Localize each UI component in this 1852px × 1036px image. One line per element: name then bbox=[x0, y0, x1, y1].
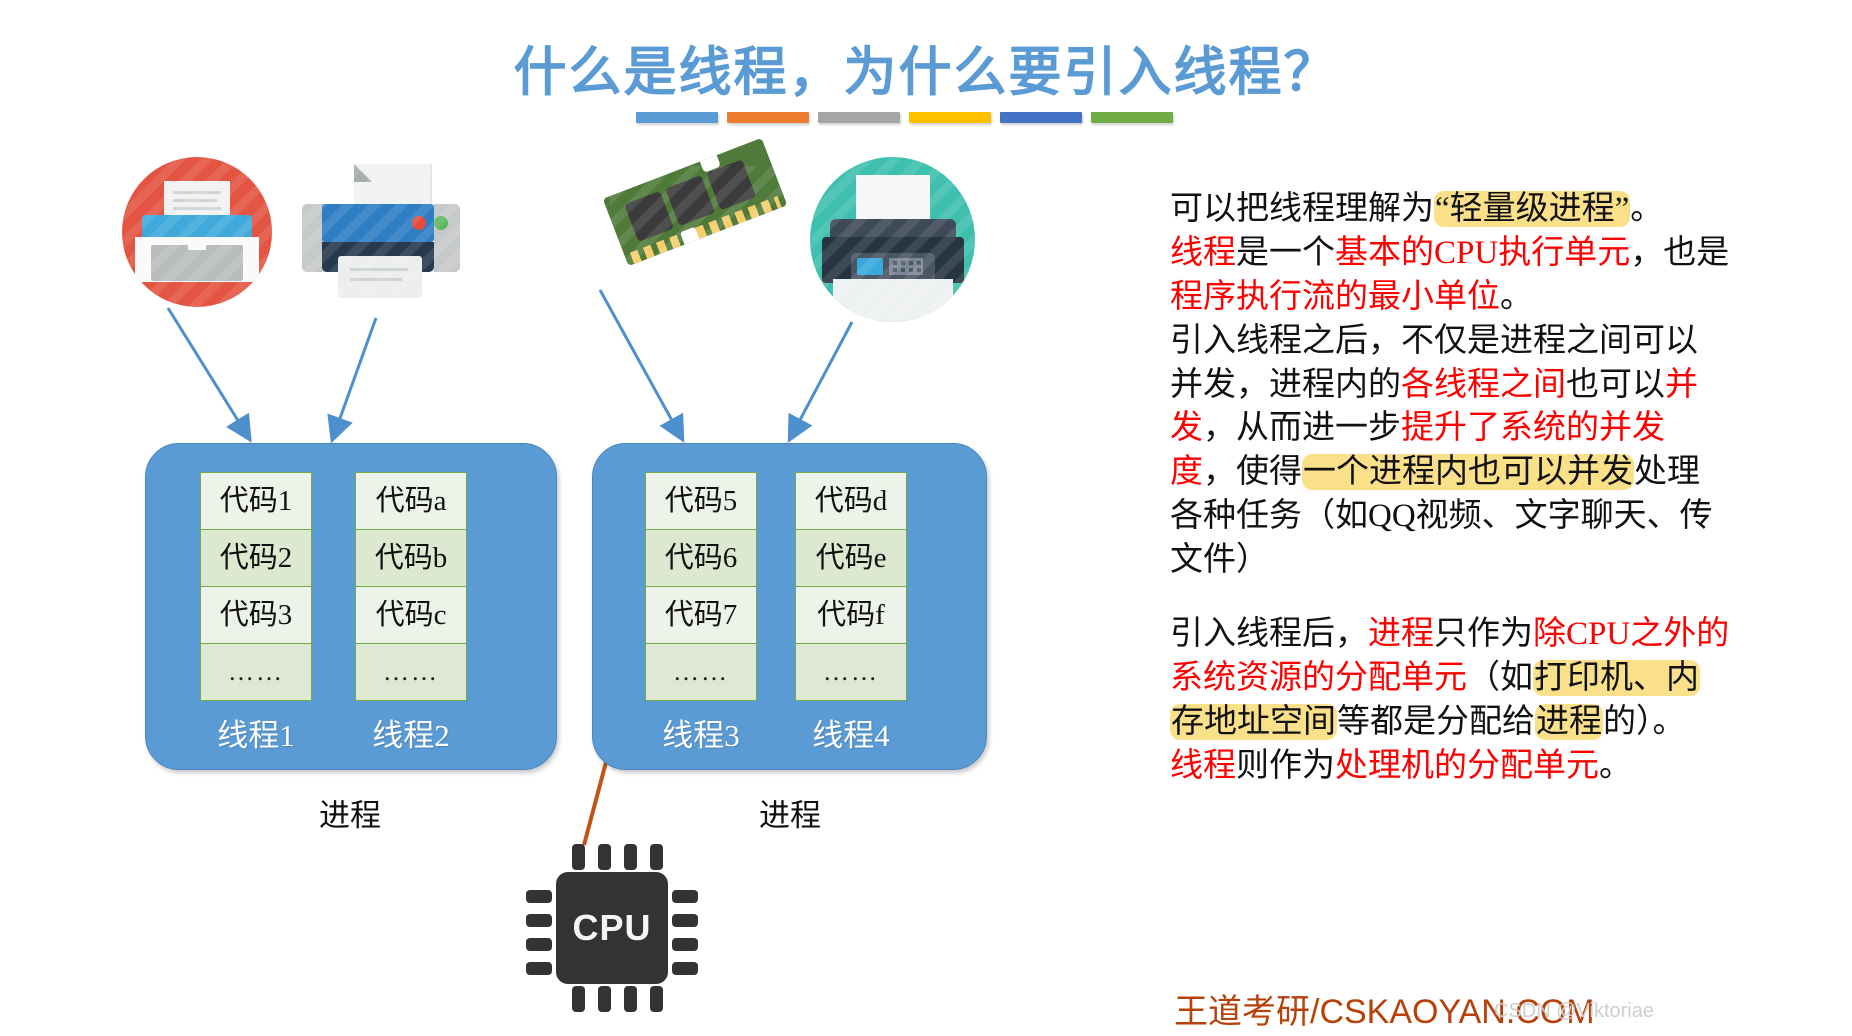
printer-body bbox=[142, 215, 252, 237]
printer-teal-circle-icon bbox=[810, 157, 975, 322]
thread-column: 代码d代码e代码f…… bbox=[795, 472, 907, 701]
code-cell: 代码d bbox=[795, 472, 907, 530]
note-run: 处理机的分配单元 bbox=[1335, 748, 1599, 784]
code-cell: 代码1 bbox=[200, 472, 312, 530]
note-paragraph-2: 线程是一个基本的CPU执行单元，也是程序执行流的最小单位。 bbox=[1170, 232, 1730, 320]
note-run: 是一个 bbox=[1236, 235, 1335, 271]
accent-bar-6 bbox=[1091, 112, 1173, 123]
note-run: 。 bbox=[1599, 748, 1632, 784]
thread-label: 线程1 bbox=[200, 710, 312, 755]
note-run: 程序执行流的最小单位 bbox=[1170, 279, 1500, 315]
code-cell: 代码a bbox=[355, 472, 467, 530]
process-label-2: 进程 bbox=[670, 790, 910, 835]
accent-bar-1 bbox=[636, 112, 718, 123]
note-run: 则作为 bbox=[1236, 748, 1335, 784]
code-cell: 代码6 bbox=[645, 530, 757, 587]
code-cell: 代码e bbox=[795, 530, 907, 587]
accent-bar-5 bbox=[1000, 112, 1082, 123]
printer-output-sheet bbox=[833, 279, 953, 322]
note-run: 基本的CPU执行单元 bbox=[1335, 235, 1630, 271]
printer-tray bbox=[151, 245, 243, 281]
printer-red-circle-icon bbox=[122, 157, 272, 307]
printer-led-green bbox=[434, 216, 448, 230]
page-title: 什么是线程，为什么要引入线程？ bbox=[0, 30, 1852, 106]
note-run: （如 bbox=[1467, 660, 1533, 696]
note-run: ，使得 bbox=[1203, 454, 1302, 490]
note-run: ，从而进一步 bbox=[1203, 410, 1401, 446]
thread-label: 线程3 bbox=[645, 710, 757, 755]
cpu-label: CPU bbox=[556, 872, 668, 984]
note-paragraph-4: 引入线程后，进程只作为除CPU之外的系统资源的分配单元（如打印机、内存地址空间等… bbox=[1170, 613, 1730, 745]
printer-side-right bbox=[434, 204, 460, 272]
process-label-1: 进程 bbox=[230, 790, 470, 835]
note-run: 只作为 bbox=[1434, 616, 1533, 652]
code-cell: 代码b bbox=[355, 530, 467, 587]
note-run: 各线程之间 bbox=[1401, 367, 1566, 403]
note-run: 。 bbox=[1630, 191, 1663, 227]
code-cell: …… bbox=[795, 644, 907, 701]
thread-column: 代码5代码6代码7…… bbox=[645, 472, 757, 701]
note-run: 线程 bbox=[1170, 748, 1236, 784]
printer-output-sheet bbox=[338, 256, 422, 298]
note-run: 也可以 bbox=[1566, 367, 1665, 403]
printer-paper bbox=[856, 175, 930, 223]
accent-bar-4 bbox=[909, 112, 991, 123]
accent-bar-strip bbox=[636, 112, 1173, 123]
slide-canvas: 什么是线程，为什么要引入线程？ bbox=[0, 0, 1852, 1036]
ram-stick bbox=[603, 138, 788, 266]
code-cell: …… bbox=[355, 644, 467, 701]
code-cell: 代码3 bbox=[200, 587, 312, 644]
code-cell: 代码7 bbox=[645, 587, 757, 644]
note-run: 进程 bbox=[1535, 704, 1603, 740]
printer-gray-icon bbox=[302, 164, 462, 304]
code-cell: 代码f bbox=[795, 587, 907, 644]
note-run: 线程 bbox=[1170, 235, 1236, 271]
note-run: “轻量级进程” bbox=[1434, 191, 1630, 227]
printer-notch bbox=[188, 241, 206, 250]
code-cell: 代码5 bbox=[645, 472, 757, 530]
note-run: 的）。 bbox=[1603, 704, 1686, 740]
arrow-printer2-to-process1 bbox=[334, 318, 376, 435]
memory-ram-icon bbox=[610, 166, 800, 286]
note-run: ，也是 bbox=[1630, 235, 1729, 271]
code-cell: 代码2 bbox=[200, 530, 312, 587]
code-cell: 代码c bbox=[355, 587, 467, 644]
thread-column: 代码1代码2代码3…… bbox=[200, 472, 312, 701]
thread-label: 线程4 bbox=[795, 710, 907, 755]
note-run: 。 bbox=[1500, 279, 1533, 315]
note-paragraph-3: 引入线程之后，不仅是进程之间可以并发，进程内的各线程之间也可以并发，从而进一步提… bbox=[1170, 320, 1730, 583]
note-run: 可以把线程理解为 bbox=[1170, 191, 1434, 227]
note-run: 等都是分配给 bbox=[1337, 704, 1535, 740]
printer-led-red bbox=[412, 216, 426, 230]
thread-label: 线程2 bbox=[355, 710, 467, 755]
note-run: 进程 bbox=[1368, 616, 1434, 652]
note-paragraph-5: 线程则作为处理机的分配单元。 bbox=[1170, 745, 1730, 789]
thread-column: 代码a代码b代码c…… bbox=[355, 472, 467, 701]
arrow-printer-to-process1 bbox=[168, 308, 247, 435]
accent-bar-3 bbox=[818, 112, 900, 123]
printer-control-panel bbox=[851, 253, 935, 281]
note-run: 一个进程内也可以并发 bbox=[1302, 454, 1634, 490]
csdn-watermark: CSDN @Viktoriae bbox=[1494, 1000, 1654, 1023]
notes-panel: 可以把线程理解为“轻量级进程”。 线程是一个基本的CPU执行单元，也是程序执行流… bbox=[1170, 188, 1730, 788]
accent-bar-2 bbox=[727, 112, 809, 123]
code-cell: …… bbox=[200, 644, 312, 701]
arrow-printer3-to-process2 bbox=[792, 322, 852, 435]
code-cell: …… bbox=[645, 644, 757, 701]
arrow-ram-to-process2 bbox=[600, 290, 680, 435]
note-paragraph-1: 可以把线程理解为“轻量级进程”。 bbox=[1170, 188, 1730, 232]
note-run: 引入线程后， bbox=[1170, 616, 1368, 652]
